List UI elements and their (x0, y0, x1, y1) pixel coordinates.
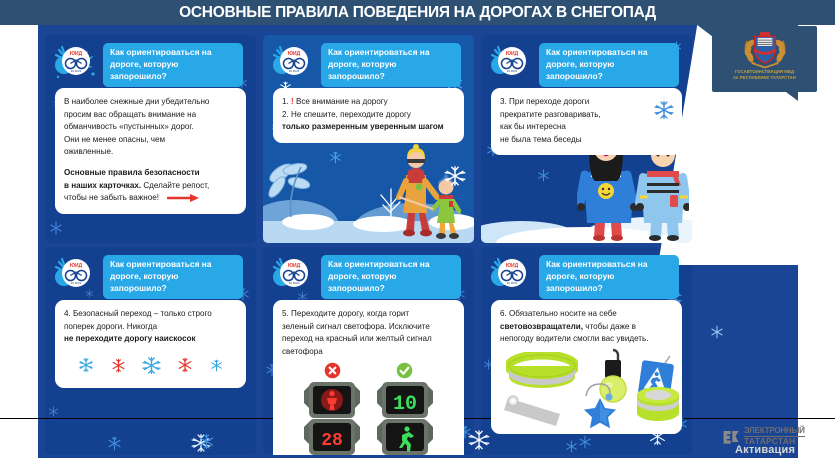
traffic-light-green: 10 (377, 362, 433, 455)
electronic-tatarstan-wordmark: ЭЛЕКТРОННЫЙ ТАТАРСТАН (744, 427, 805, 445)
yuid-logo-icon: ЮИД 16 RUS (487, 41, 535, 83)
card-body-panel: 6. Обязательно носите на себе световозвр… (491, 300, 682, 434)
red-arrow-icon (167, 193, 201, 203)
snowflake-icon (537, 169, 550, 182)
check-icon (396, 362, 413, 379)
card-question-bubble: Как ориентироваться на дороге, которую з… (321, 43, 461, 87)
body-line: 5. Переходите дорогу, когда горит (282, 308, 455, 321)
body-line: Сделайте репост, (143, 181, 209, 190)
snowflake-icon (329, 151, 342, 164)
body-line: переход на красный или желтый сигнал (282, 333, 455, 346)
cross-icon (324, 362, 341, 379)
snowflake-icon (198, 433, 215, 450)
snowflake-icon (710, 325, 724, 339)
body-line: Они не менее опасны, чем (64, 134, 237, 147)
slide-left-margin (0, 25, 38, 458)
electronic-tatarstan-logo: ЭЛЕКТРОННЫЙ ТАТАРСТАН (722, 427, 805, 445)
body-line-bold: не переходите дорогу наискосок (64, 333, 237, 346)
snowflake-icon (111, 358, 126, 373)
card-header: ЮИД 16 RUS Как ориентироваться на дороге… (481, 35, 692, 87)
card-header: ЮИД 16 RUS Как ориентироваться на дороге… (263, 247, 474, 299)
list-number: 1. (282, 97, 289, 106)
body-line-bold: в наших карточках. (64, 181, 141, 190)
snowflake-icon (654, 100, 674, 120)
green-countdown: 10 (393, 393, 417, 416)
svg-text:16 RUS: 16 RUS (507, 281, 518, 285)
body-line: Все внимание на дорогу (296, 97, 388, 106)
card-body-panel: 4. Безопасный переход – только строго по… (55, 300, 246, 388)
body-line: поперек дороги. Никогда (64, 321, 237, 334)
body-line-bold: световозвращатели, (500, 322, 583, 331)
snowflake-icon (565, 440, 578, 453)
card-question-bubble: Как ориентироваться на дороге, которую з… (539, 255, 679, 299)
snowflake-icon (210, 359, 223, 372)
svg-text:16 RUS: 16 RUS (289, 281, 300, 285)
svg-text:ЮИД: ЮИД (288, 51, 301, 57)
presentation-title-bar: ОСНОВНЫЕ ПРАВИЛА ПОВЕДЕНИЯ НА ДОРОГАХ В … (0, 0, 835, 25)
slide-canvas: ЮИД 16 RUS Как ориентироваться на дороге… (38, 25, 798, 458)
snowflake-icon (177, 357, 193, 373)
electronic-tatarstan-mark-icon (722, 429, 741, 444)
svg-text:16 RUS: 16 RUS (71, 281, 82, 285)
mother-and-child-illustration (381, 135, 469, 239)
body-line: оживленные. (64, 146, 237, 159)
body-line-bold: только размеренным уверенным шагом (282, 121, 455, 134)
svg-text:ЮИД: ЮИД (506, 51, 519, 57)
body-line: прекратите разговаривать, (500, 109, 642, 122)
svg-text:ЮИД: ЮИД (70, 51, 83, 57)
snowflake-icon (107, 436, 122, 451)
card-grid: ЮИД 16 RUS Как ориентироваться на дороге… (45, 35, 697, 455)
body-line: 2. Не спешите, переходите дорогу (282, 109, 455, 122)
yuid-logo-icon: ЮИД 16 RUS (269, 253, 317, 295)
red-countdown: 28 (321, 431, 343, 451)
frosted-plant-icon (265, 155, 317, 221)
body-line: 4. Безопасный переход – только строго (64, 308, 237, 321)
yuid-logo-icon: ЮИД 16 RUS (269, 41, 317, 83)
activation-watermark: Активация (735, 444, 795, 456)
card-body-panel: 5. Переходите дорогу, когда горит зелены… (273, 300, 464, 455)
card-body-panel: В наиболее снежные дни убедительно проси… (55, 88, 246, 214)
body-line: как бы интересна (500, 121, 642, 134)
page-title: ОСНОВНЫЕ ПРАВИЛА ПОВЕДЕНИЯ НА ДОРОГАХ В … (179, 4, 656, 22)
yuid-logo-icon: ЮИД 16 RUS (487, 253, 535, 295)
body-line-bold: Основные правила безопасности (64, 167, 237, 180)
snowflake-row (64, 346, 237, 379)
snowflake-icon (49, 221, 63, 235)
exclamation-icon: ! (291, 97, 294, 106)
body-line: не была тема беседы (500, 134, 642, 147)
snowflake-icon (578, 435, 592, 449)
card-header: ЮИД 16 RUS Как ориентироваться на дороге… (263, 35, 474, 87)
card-question-bubble: Как ориентироваться на дороге, которую з… (103, 43, 243, 87)
card-rule-1[interactable]: ЮИД 16 RUS Как ориентироваться на дороге… (45, 35, 256, 243)
gibdd-emblem-block: ГОСАВТОИНСПЕКЦИЯ МВД по РЕСПУБЛИКЕ ТАТАР… (712, 26, 817, 92)
reflective-tape-roll-icon (634, 384, 682, 428)
body-line: чтобы не забыть важное! (64, 193, 159, 202)
screenshot-root: ОСНОВНЫЕ ПРАВИЛА ПОВЕДЕНИЯ НА ДОРОГАХ В … (0, 0, 835, 458)
reflective-star-pendant-icon (576, 380, 624, 430)
body-line: чтобы даже в (585, 322, 636, 331)
snowflake-icon (468, 429, 490, 451)
svg-text:ЮИД: ЮИД (288, 263, 301, 269)
traffic-lights-group: 28 (282, 358, 455, 455)
traffic-light-red: 28 (304, 362, 360, 455)
snowflake-icon (48, 406, 59, 417)
svg-text:ЮИД: ЮИД (506, 263, 519, 269)
traffic-light-green-icon: 10 (377, 381, 433, 455)
card-header: ЮИД 16 RUS Как ориентироваться на дороге… (45, 35, 256, 87)
svg-text:16 RUS: 16 RUS (289, 69, 300, 73)
card-rule-6[interactable]: ЮИД 16 RUS Как ориентироваться на дороге… (481, 247, 692, 455)
card-header: ЮИД 16 RUS Как ориентироваться на дороге… (45, 247, 256, 299)
reflector-items-group (500, 348, 673, 432)
snowflake-icon (78, 357, 94, 373)
card-rule-4[interactable]: ЮИД 16 RUS Как ориентироваться на дороге… (45, 247, 256, 455)
spacer (64, 159, 237, 167)
yuid-logo-icon: ЮИД 16 RUS (51, 253, 99, 295)
card-question-bubble: Как ориентироваться на дороге, которую з… (539, 43, 679, 87)
emblem-caption-line2: по РЕСПУБЛИКЕ ТАТАРСТАН (733, 75, 796, 81)
card-body-panel: 1. ! Все внимание на дорогу 2. Не спешит… (273, 88, 464, 143)
snowflake-icon (706, 235, 723, 252)
card-body-panel: 3. При переходе дороги прекратите разгов… (491, 88, 682, 155)
body-line: зеленый сигнал светофора. Исключите (282, 321, 455, 334)
traffic-light-red-icon: 28 (304, 381, 360, 455)
body-line: В наиболее снежные дни убедительно (64, 96, 237, 109)
card-rule-5[interactable]: ЮИД 16 RUS Как ориентироваться на дороге… (263, 247, 474, 455)
body-line: обманчивость «пустынных» дорог. (64, 121, 237, 134)
card-question-bubble: Как ориентироваться на дороге, которую з… (103, 255, 243, 299)
svg-text:16 RUS: 16 RUS (507, 69, 518, 73)
card-header: ЮИД 16 RUS Как ориентироваться на дороге… (481, 247, 692, 299)
body-line: 6. Обязательно носите на себе (500, 308, 673, 321)
snowflake-icon (142, 356, 161, 375)
snowflake-icon (444, 165, 466, 187)
body-line: светофора (282, 346, 455, 359)
gibdd-emblem-icon (741, 29, 789, 69)
yuid-logo-icon: ЮИД 16 RUS (51, 41, 99, 83)
body-line: непогоду водители смогли вас увидеть. (500, 333, 673, 346)
svg-text:16 RUS: 16 RUS (71, 69, 82, 73)
card-rule-2[interactable]: ЮИД 16 RUS Как ориентироваться на дороге… (263, 35, 474, 243)
body-line: просим вас обращать внимание на (64, 109, 237, 122)
card-rule-3[interactable]: ЮИД 16 RUS Как ориентироваться на дороге… (481, 35, 692, 243)
body-line: 3. При переходе дороги (500, 96, 642, 109)
svg-text:ЮИД: ЮИД (70, 263, 83, 269)
reflective-strip-tag-icon (504, 388, 570, 428)
card-question-bubble: Как ориентироваться на дороге, которую з… (321, 255, 461, 299)
